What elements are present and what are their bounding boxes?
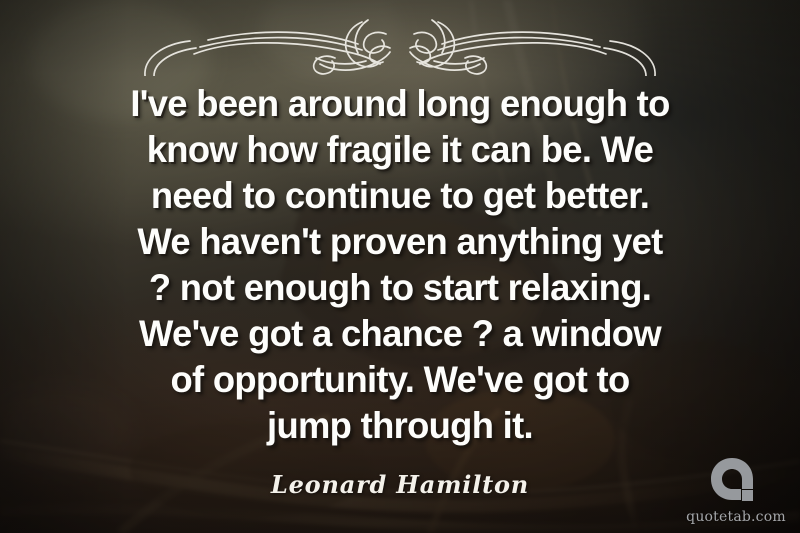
watermark[interactable]: quotetab.com bbox=[684, 456, 788, 525]
quote-text-block: I've been around long enough to know how… bbox=[0, 80, 800, 448]
quote-line: We haven't proven anything yet bbox=[37, 218, 763, 264]
decorative-flourish-icon bbox=[90, 14, 710, 76]
quote-line: We've got a chance ? a window bbox=[37, 310, 763, 356]
quote-line: need to continue to get better. bbox=[37, 172, 763, 218]
quote-image-card: I've been around long enough to know how… bbox=[0, 0, 800, 533]
quote-line: jump through it. bbox=[37, 402, 763, 448]
quote-author: Leonard Hamilton bbox=[0, 470, 800, 499]
quote-line: know how fragile it can be. We bbox=[37, 126, 763, 172]
quote-line: of opportunity. We've got to bbox=[37, 356, 763, 402]
quotetab-q-logo-icon[interactable] bbox=[710, 456, 762, 508]
quote-line: ? not enough to start relaxing. bbox=[37, 264, 763, 310]
quote-line: I've been around long enough to bbox=[37, 80, 763, 126]
watermark-label[interactable]: quotetab.com bbox=[684, 509, 788, 525]
